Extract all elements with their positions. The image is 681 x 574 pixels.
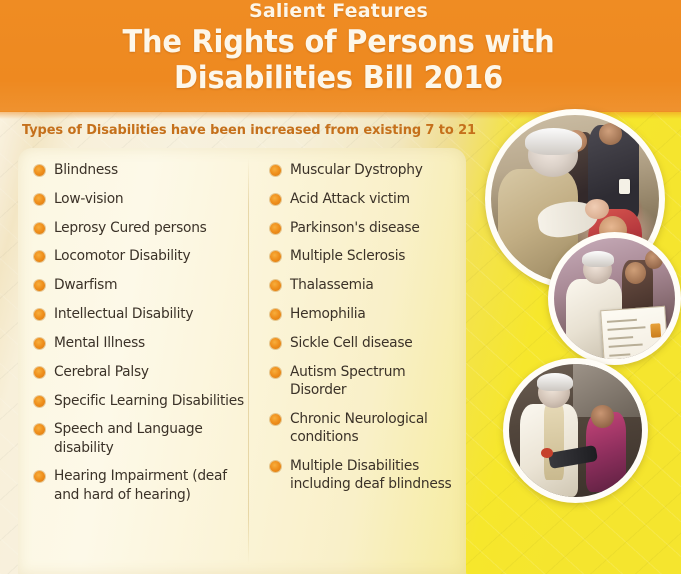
list-item: Multiple Disabilities including deaf bli…	[270, 457, 462, 494]
list-item: Low-vision	[34, 190, 250, 208]
list-item: Hemophilia	[270, 305, 462, 323]
list-item: Autism Spectrum Disorder	[270, 363, 462, 400]
photo-id-badge	[619, 179, 631, 194]
disabilities-column-right: Muscular Dystrophy Acid Attack victim Pa…	[256, 148, 466, 574]
disabilities-list-card: Blindness Low-vision Leprosy Cured perso…	[18, 148, 466, 574]
list-item: Intellectual Disability	[34, 305, 250, 323]
page-title-line-1: The Rights of Persons with	[24, 25, 654, 61]
photo-frame-inner	[554, 238, 675, 359]
disabilities-column-left: Blindness Low-vision Leprosy Cured perso…	[18, 148, 256, 574]
list-item-label: Leprosy Cured persons	[54, 219, 207, 237]
bullet-icon	[34, 194, 45, 205]
list-item-label: Chronic Neurological conditions	[290, 410, 457, 447]
certificate-seal	[650, 323, 661, 337]
bullet-icon	[270, 309, 281, 320]
photo-figure-head	[599, 123, 623, 145]
list-item-label: Blindness	[54, 161, 118, 179]
bullet-icon	[34, 396, 45, 407]
list-item-label: Speech and Language disability	[54, 420, 244, 457]
list-item-label: Dwarfism	[54, 276, 117, 294]
bullet-icon	[270, 280, 281, 291]
disabilities-columns: Blindness Low-vision Leprosy Cured perso…	[18, 148, 466, 574]
subtitle-text: Types of Disabilities have been increase…	[22, 122, 476, 138]
list-item-label: Autism Spectrum Disorder	[290, 363, 457, 400]
list-item-label: Thalassemia	[290, 276, 374, 294]
photo-figure-pm-hair	[525, 128, 582, 155]
list-item: Mental Illness	[34, 334, 250, 352]
list-item-label: Multiple Disabilities including deaf bli…	[290, 457, 457, 494]
photo-figure-head	[625, 262, 646, 284]
list-item: Hearing Impairment (deaf and hard of hea…	[34, 467, 250, 504]
bullet-icon	[34, 471, 45, 482]
certificate-line	[609, 344, 643, 348]
photo-figure-head	[591, 405, 614, 428]
certificate-line	[608, 326, 646, 331]
list-item: Muscular Dystrophy	[270, 161, 462, 179]
photo-figure-pm-hand	[585, 199, 609, 219]
list-item-label: Mental Illness	[54, 334, 145, 352]
header-band: Salient Features The Rights of Persons w…	[0, 0, 681, 112]
list-item: Cerebral Palsy	[34, 363, 250, 381]
bullet-icon	[34, 223, 45, 234]
list-item-label: Hemophilia	[290, 305, 366, 323]
list-item: Parkinson's disease	[270, 219, 462, 237]
bullet-icon	[34, 338, 45, 349]
list-item-label: Parkinson's disease	[290, 219, 420, 237]
list-item-label: Low-vision	[54, 190, 123, 208]
photo-figure-pm-shawl	[544, 405, 564, 479]
list-item-label: Sickle Cell disease	[290, 334, 413, 352]
list-item-label: Muscular Dystrophy	[290, 161, 423, 179]
list-item-label: Multiple Sclerosis	[290, 247, 405, 265]
photo-figure-pm-hair	[537, 373, 573, 390]
bullet-icon	[270, 223, 281, 234]
list-item-label: Locomotor Disability	[54, 247, 190, 265]
list-item: Sickle Cell disease	[270, 334, 462, 352]
list-item: Speech and Language disability	[34, 420, 250, 457]
bullet-icon	[34, 280, 45, 291]
list-item: Blindness	[34, 161, 250, 179]
certificate-line	[607, 319, 637, 323]
photo-prime-minister-giving-aid-device	[503, 358, 648, 503]
photo-scene	[509, 364, 642, 497]
list-item: Chronic Neurological conditions	[270, 410, 462, 447]
bullet-icon	[270, 338, 281, 349]
header-text-group: Salient Features The Rights of Persons w…	[0, 2, 681, 97]
list-item: Acid Attack victim	[270, 190, 462, 208]
header-eyebrow: Salient Features	[0, 2, 677, 21]
photo-prime-minister-handing-certificate	[548, 232, 681, 365]
photo-scene	[554, 238, 675, 359]
list-item-label: Intellectual Disability	[54, 305, 193, 323]
list-item: Multiple Sclerosis	[270, 247, 462, 265]
certificate-line	[610, 353, 631, 356]
bullet-icon	[34, 251, 45, 262]
photo-figure-head	[645, 250, 663, 269]
list-item: Dwarfism	[34, 276, 250, 294]
list-item-label: Specific Learning Disabilities	[54, 392, 244, 410]
list-item: Thalassemia	[270, 276, 462, 294]
page-title-line-2: Disabilities Bill 2016	[24, 61, 654, 97]
infographic-poster: Salient Features The Rights of Persons w…	[0, 0, 681, 574]
list-item-label: Hearing Impairment (deaf and hard of hea…	[54, 467, 244, 504]
bullet-icon	[270, 165, 281, 176]
photo-figure-pm-hair	[582, 251, 615, 267]
list-item-label: Cerebral Palsy	[54, 363, 149, 381]
list-item: Leprosy Cured persons	[34, 219, 250, 237]
photo-certificate	[601, 306, 670, 359]
bullet-icon	[34, 309, 45, 320]
bullet-icon	[270, 414, 281, 425]
bullet-icon	[34, 424, 45, 435]
bullet-icon	[34, 367, 45, 378]
photo-frame-inner	[509, 364, 642, 497]
bullet-icon	[34, 165, 45, 176]
bullet-icon	[270, 194, 281, 205]
list-item: Locomotor Disability	[34, 247, 250, 265]
list-item: Specific Learning Disabilities	[34, 392, 250, 410]
list-item-label: Acid Attack victim	[290, 190, 410, 208]
bullet-icon	[270, 367, 281, 378]
bullet-icon	[270, 251, 281, 262]
bullet-icon	[270, 461, 281, 472]
certificate-line	[608, 336, 633, 340]
